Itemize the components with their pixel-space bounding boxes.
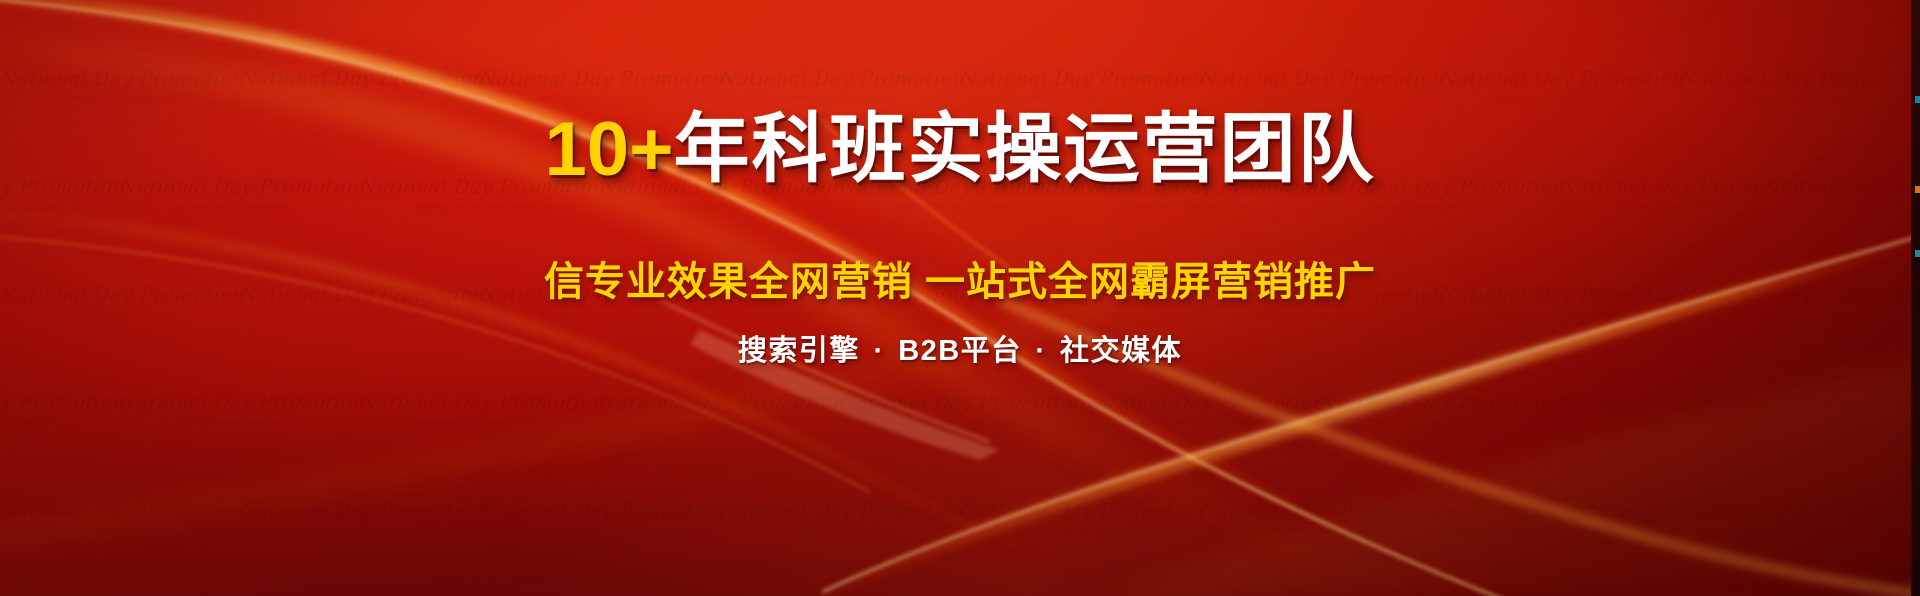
edge-pip-orange	[1915, 186, 1920, 193]
edge-pip-cyan	[1915, 96, 1920, 103]
tagline: 搜索引擎 · B2B平台 · 社交媒体	[0, 327, 1920, 369]
promotional-banner: National Day Promotion国庆节促销 National Day…	[0, 0, 1920, 596]
headline-text: 年科班实操运营团队	[673, 107, 1375, 192]
tagline-item-b2b-platform: B2B平台	[898, 335, 1022, 367]
banner-content: 10+年科班实操运营团队 信专业效果全网营销 一站式全网霸屏营销推广 搜索引擎 …	[0, 0, 1920, 596]
tagline-separator-1: ·	[870, 335, 889, 367]
subheadline: 信专业效果全网营销 一站式全网霸屏营销推广	[0, 249, 1920, 307]
headline: 10+年科班实操运营团队	[0, 112, 1920, 188]
edge-pip-teal	[1915, 250, 1920, 257]
tagline-separator-2: ·	[1031, 335, 1050, 367]
right-edge-strip	[1911, 0, 1920, 596]
headline-number: 10+	[545, 107, 674, 192]
tagline-item-search-engine: 搜索引擎	[738, 335, 860, 367]
tagline-item-social-media: 社交媒体	[1060, 335, 1182, 367]
